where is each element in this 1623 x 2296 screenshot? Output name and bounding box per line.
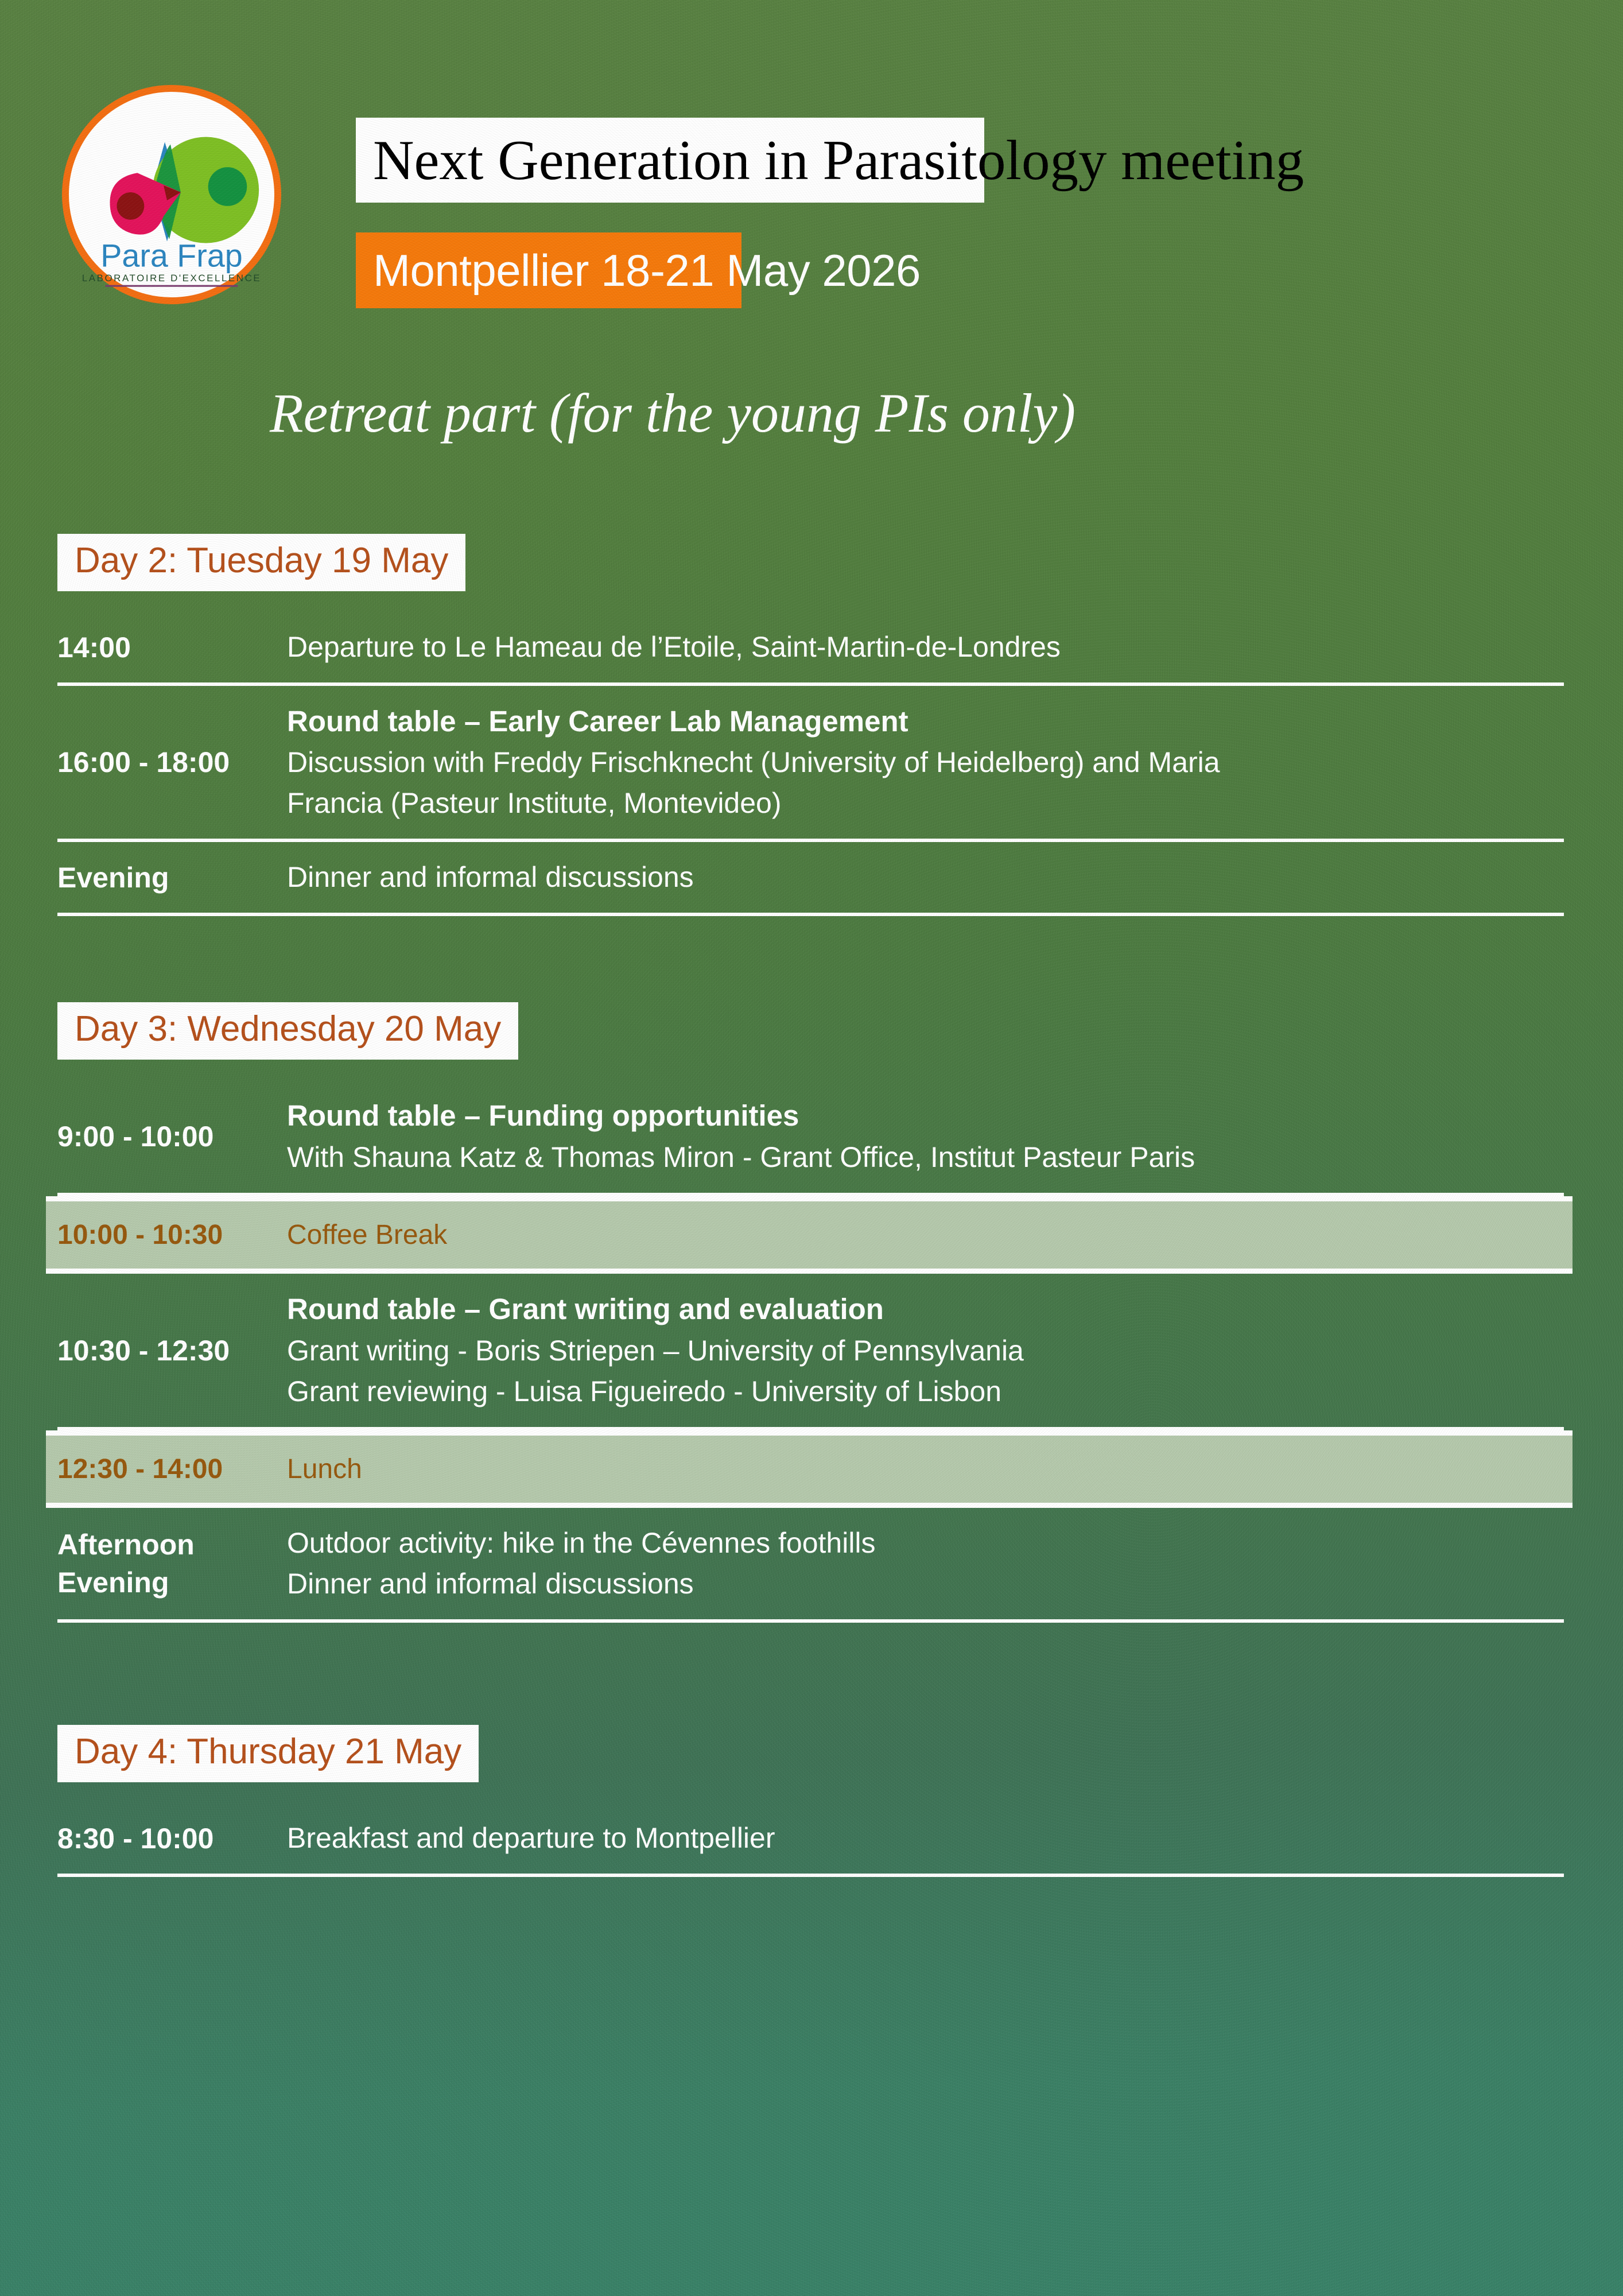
day-block: Day 4: Thursday 21 May8:30 - 10:00Breakf… <box>0 1725 1623 1877</box>
break-label: Coffee Break <box>287 1219 447 1252</box>
schedule-item-line: Grant reviewing - Luisa Figueiredo - Uni… <box>287 1371 1564 1412</box>
schedule-item-line: With Shauna Katz & Thomas Miron - Grant … <box>287 1137 1564 1178</box>
day-spacer <box>0 916 1623 1002</box>
meeting-title-band: Next Generation in Parasitology meeting <box>356 118 984 203</box>
retreat-section-heading: Retreat part (for the young PIs only) <box>270 386 1075 441</box>
schedule-item-line: Francia (Pasteur Institute, Montevideo) <box>287 783 1564 824</box>
schedule-description: Round table – Early Career Lab Managemen… <box>287 701 1564 824</box>
schedule-item-line: Dinner and informal discussions <box>287 1564 1564 1604</box>
schedule-row: 14:00Departure to Le Hameau de l’Etoile,… <box>57 612 1564 686</box>
day-rows: 8:30 - 10:00Breakfast and departure to M… <box>0 1803 1623 1877</box>
schedule-description: Breakfast and departure to Montpellier <box>287 1818 1564 1859</box>
break-time: 10:00 - 10:30 <box>46 1219 287 1252</box>
meeting-date-band: Montpellier 18-21 May 2026 <box>356 232 741 308</box>
day-block: Day 2: Tuesday 19 May14:00Departure to L… <box>0 534 1623 916</box>
schedule-break-row: 12:30 - 14:00Lunch <box>46 1430 1572 1508</box>
schedule-item-line: Discussion with Freddy Frischknecht (Uni… <box>287 742 1564 783</box>
schedule-time: 16:00 - 18:00 <box>57 743 287 781</box>
schedule-row: Afternoon EveningOutdoor activity: hike … <box>57 1508 1564 1623</box>
schedule-item-line: Outdoor activity: hike in the Cévennes f… <box>287 1523 1564 1564</box>
schedule-description: Outdoor activity: hike in the Cévennes f… <box>287 1523 1564 1604</box>
schedule-row: 9:00 - 10:00Round table – Funding opport… <box>57 1080 1564 1196</box>
schedule-break-row: 10:00 - 10:30Coffee Break <box>46 1196 1572 1274</box>
schedule-description: Round table – Funding opportunitiesWith … <box>287 1095 1564 1177</box>
schedule-row: 8:30 - 10:00Breakfast and departure to M… <box>57 1803 1564 1877</box>
schedule-item-title: Round table – Funding opportunities <box>287 1095 1564 1137</box>
schedule-item-line: Grant writing - Boris Striepen – Univers… <box>287 1331 1564 1371</box>
schedule-time: 8:30 - 10:00 <box>57 1820 287 1857</box>
schedule-item-line: Dinner and informal discussions <box>287 857 1564 898</box>
schedule-item-title: Round table – Grant writing and evaluati… <box>287 1289 1564 1330</box>
schedule-time: Evening <box>57 859 287 897</box>
schedule-row: EveningDinner and informal discussions <box>57 842 1564 916</box>
day-rows: 9:00 - 10:00Round table – Funding opport… <box>0 1080 1623 1623</box>
schedule-item-title: Round table – Early Career Lab Managemen… <box>287 701 1564 742</box>
schedule-row: 10:30 - 12:30Round table – Grant writing… <box>57 1274 1564 1430</box>
para-frap-logo-graphic: Para Frap LABORATOIRE D'EXCELLENCE <box>69 92 274 297</box>
meeting-date: Montpellier 18-21 May 2026 <box>373 248 921 293</box>
day-header: Day 2: Tuesday 19 May <box>57 534 465 591</box>
schedule-item-line: Departure to Le Hameau de l’Etoile, Sain… <box>287 627 1564 668</box>
logo-wordmark: Para Frap <box>100 238 243 273</box>
day-header-label: Day 2: Tuesday 19 May <box>75 541 448 580</box>
poster-content: Para Frap LABORATOIRE D'EXCELLENCE Next … <box>0 0 1623 2296</box>
day-header: Day 3: Wednesday 20 May <box>57 1002 518 1060</box>
break-time: 12:30 - 14:00 <box>46 1453 287 1486</box>
day-header-label: Day 3: Wednesday 20 May <box>75 1009 501 1049</box>
schedule-item-line: Breakfast and departure to Montpellier <box>287 1818 1564 1859</box>
schedule-time: 10:30 - 12:30 <box>57 1332 287 1370</box>
schedule-row: 16:00 - 18:00Round table – Early Career … <box>57 686 1564 842</box>
poster-canvas: Para Frap LABORATOIRE D'EXCELLENCE Next … <box>0 0 1623 2296</box>
para-frap-logo: Para Frap LABORATOIRE D'EXCELLENCE <box>62 85 281 304</box>
schedule-list: Day 2: Tuesday 19 May14:00Departure to L… <box>0 534 1623 1877</box>
day-spacer <box>0 1623 1623 1725</box>
schedule-time: 9:00 - 10:00 <box>57 1118 287 1155</box>
schedule-description: Departure to Le Hameau de l’Etoile, Sain… <box>287 627 1564 668</box>
schedule-description: Round table – Grant writing and evaluati… <box>287 1289 1564 1411</box>
day-header-label: Day 4: Thursday 21 May <box>75 1732 461 1771</box>
schedule-time: Afternoon Evening <box>57 1526 287 1601</box>
day-header: Day 4: Thursday 21 May <box>57 1725 479 1782</box>
page-title: Next Generation in Parasitology meeting <box>373 132 1304 189</box>
day-rows: 14:00Departure to Le Hameau de l’Etoile,… <box>0 612 1623 916</box>
break-label: Lunch <box>287 1453 362 1486</box>
logo-tagline: LABORATOIRE D'EXCELLENCE <box>82 273 261 284</box>
schedule-time: 14:00 <box>57 629 287 666</box>
day-block: Day 3: Wednesday 20 May9:00 - 10:00Round… <box>0 1002 1623 1623</box>
schedule-description: Dinner and informal discussions <box>287 857 1564 898</box>
